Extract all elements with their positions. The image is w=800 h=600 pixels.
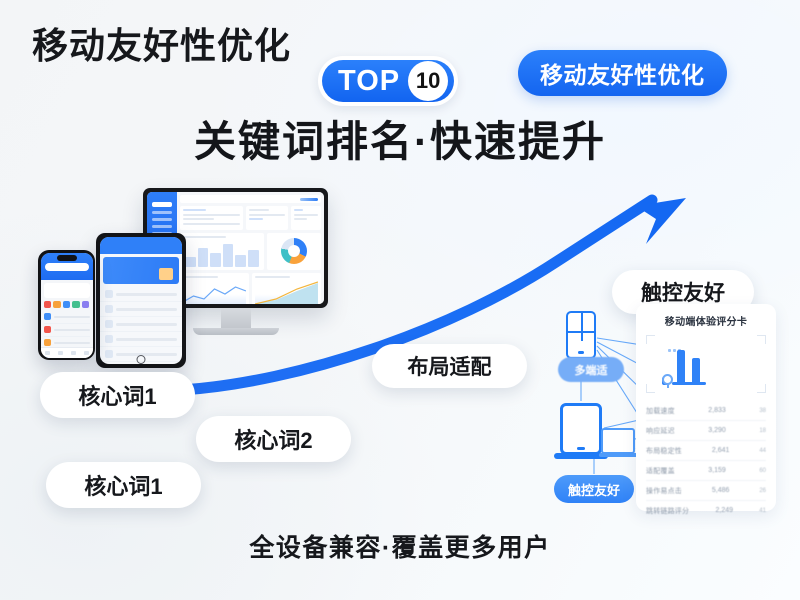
dashboard-topbar bbox=[180, 195, 321, 203]
phone-notch bbox=[57, 255, 77, 261]
row-value: 5,486 bbox=[712, 487, 730, 494]
row-name: 适配覆盖 bbox=[646, 466, 675, 476]
row-delta: 41 bbox=[759, 508, 766, 514]
list-item bbox=[44, 324, 90, 337]
diagram-laptop-icon bbox=[601, 428, 635, 454]
device-mockup-group bbox=[28, 188, 328, 393]
score-chart-baseline bbox=[672, 382, 706, 385]
dashboard-main bbox=[177, 192, 324, 304]
dashboard-area-chart-left bbox=[180, 273, 249, 305]
row-value: 2,641 bbox=[712, 447, 730, 454]
diagram-touch-badge: 触控友好 bbox=[554, 475, 634, 503]
table-row: 加载速度 2,833 38 bbox=[646, 401, 766, 421]
tablet-app-header bbox=[100, 237, 182, 254]
keyword-pill-2: 核心词2 bbox=[196, 416, 351, 462]
row-value: 2,249 bbox=[715, 507, 733, 514]
poster-canvas: 移动友好性优化 TOP 10 移动友好性优化 关键词排名·快速提升 bbox=[0, 0, 800, 600]
row-name: 加载速度 bbox=[646, 406, 675, 416]
dashboard-stat-card bbox=[246, 206, 287, 230]
diagram-phone-icon bbox=[566, 311, 596, 359]
score-card-rows: 加载速度 2,833 38 响应延迟 3,290 18 布局稳定性 2,641 … bbox=[646, 401, 766, 520]
row-value: 3,290 bbox=[708, 427, 726, 434]
keyword-pill-3: 核心词1 bbox=[46, 462, 201, 508]
diagram-tablet-icon bbox=[560, 403, 602, 455]
row-value: 2,833 bbox=[708, 407, 726, 414]
row-delta: 44 bbox=[759, 448, 766, 454]
table-row: 响应延迟 3,290 18 bbox=[646, 421, 766, 441]
list-item bbox=[100, 302, 182, 317]
diagram-multi-device-badge: 多端适 bbox=[558, 357, 624, 382]
footer-tagline: 全设备兼容·覆盖更多用户 bbox=[0, 528, 800, 564]
keyword-pill-1: 核心词1 bbox=[40, 372, 195, 418]
phone-promo-card bbox=[44, 283, 90, 298]
kicker-title: 移动友好性优化 bbox=[32, 26, 291, 66]
row-name: 跳转链路评分 bbox=[646, 506, 689, 516]
row-name: 操作易点击 bbox=[646, 486, 682, 496]
table-row: 适配覆盖 3,159 60 bbox=[646, 461, 766, 481]
table-row: 操作易点击 5,486 26 bbox=[646, 481, 766, 501]
score-chart-bars bbox=[662, 341, 752, 385]
phone-screen-bezel bbox=[38, 250, 95, 360]
desktop-stand-base bbox=[193, 328, 279, 335]
phone-tabbar[interactable] bbox=[41, 347, 93, 358]
table-row: 布局稳定性 2,641 44 bbox=[646, 441, 766, 461]
row-value: 3,159 bbox=[708, 467, 726, 474]
feature-tag-pill: 移动友好性优化 bbox=[518, 50, 727, 96]
mobile-score-card: 移动端体验评分卡 加载速度 2,833 38 响应延迟 bbox=[636, 304, 776, 511]
tablet-hero-banner bbox=[103, 257, 179, 285]
top-rank-word: TOP bbox=[338, 67, 400, 96]
page-headline: 关键词排名·快速提升 bbox=[0, 118, 800, 166]
dashboard-bar-chart bbox=[180, 233, 263, 270]
dashboard-area-chart-right bbox=[252, 273, 321, 305]
phone-quick-icons bbox=[41, 298, 93, 311]
phone-mockup bbox=[38, 250, 95, 360]
search-input[interactable] bbox=[45, 263, 89, 271]
dashboard-filter-card bbox=[180, 206, 243, 230]
row-name: 布局稳定性 bbox=[646, 446, 682, 456]
row-delta: 38 bbox=[759, 408, 766, 414]
list-item bbox=[44, 311, 90, 324]
tablet-home-button bbox=[137, 355, 146, 364]
top-rank-badge-inner: TOP 10 bbox=[322, 60, 454, 102]
row-name: 响应延迟 bbox=[646, 426, 675, 436]
list-item bbox=[100, 317, 182, 332]
tablet-mockup bbox=[96, 233, 186, 368]
list-item bbox=[100, 332, 182, 347]
desktop-stand-neck bbox=[221, 308, 251, 328]
phone-app-screen bbox=[41, 253, 93, 358]
device-relation-diagram: 多端适 触控友好 移动端体验评分卡 加载速度 2,833 38 bbox=[548, 300, 780, 515]
tablet-app-screen bbox=[100, 237, 182, 364]
dashboard-side-card bbox=[291, 206, 321, 230]
top-rank-badge: TOP 10 bbox=[318, 56, 458, 106]
layout-adapt-pill: 布局适配 bbox=[372, 344, 527, 388]
score-card-title: 移动端体验评分卡 bbox=[646, 313, 766, 328]
row-delta: 18 bbox=[759, 428, 766, 434]
tablet-screen-bezel bbox=[96, 233, 186, 368]
row-delta: 26 bbox=[759, 488, 766, 494]
dashboard-donut-chart bbox=[267, 233, 321, 270]
list-item bbox=[100, 287, 182, 302]
row-delta: 60 bbox=[759, 468, 766, 474]
top-rank-number: 10 bbox=[408, 61, 448, 101]
score-card-chart bbox=[646, 335, 766, 393]
table-row: 跳转链路评分 2,249 41 bbox=[646, 501, 766, 520]
